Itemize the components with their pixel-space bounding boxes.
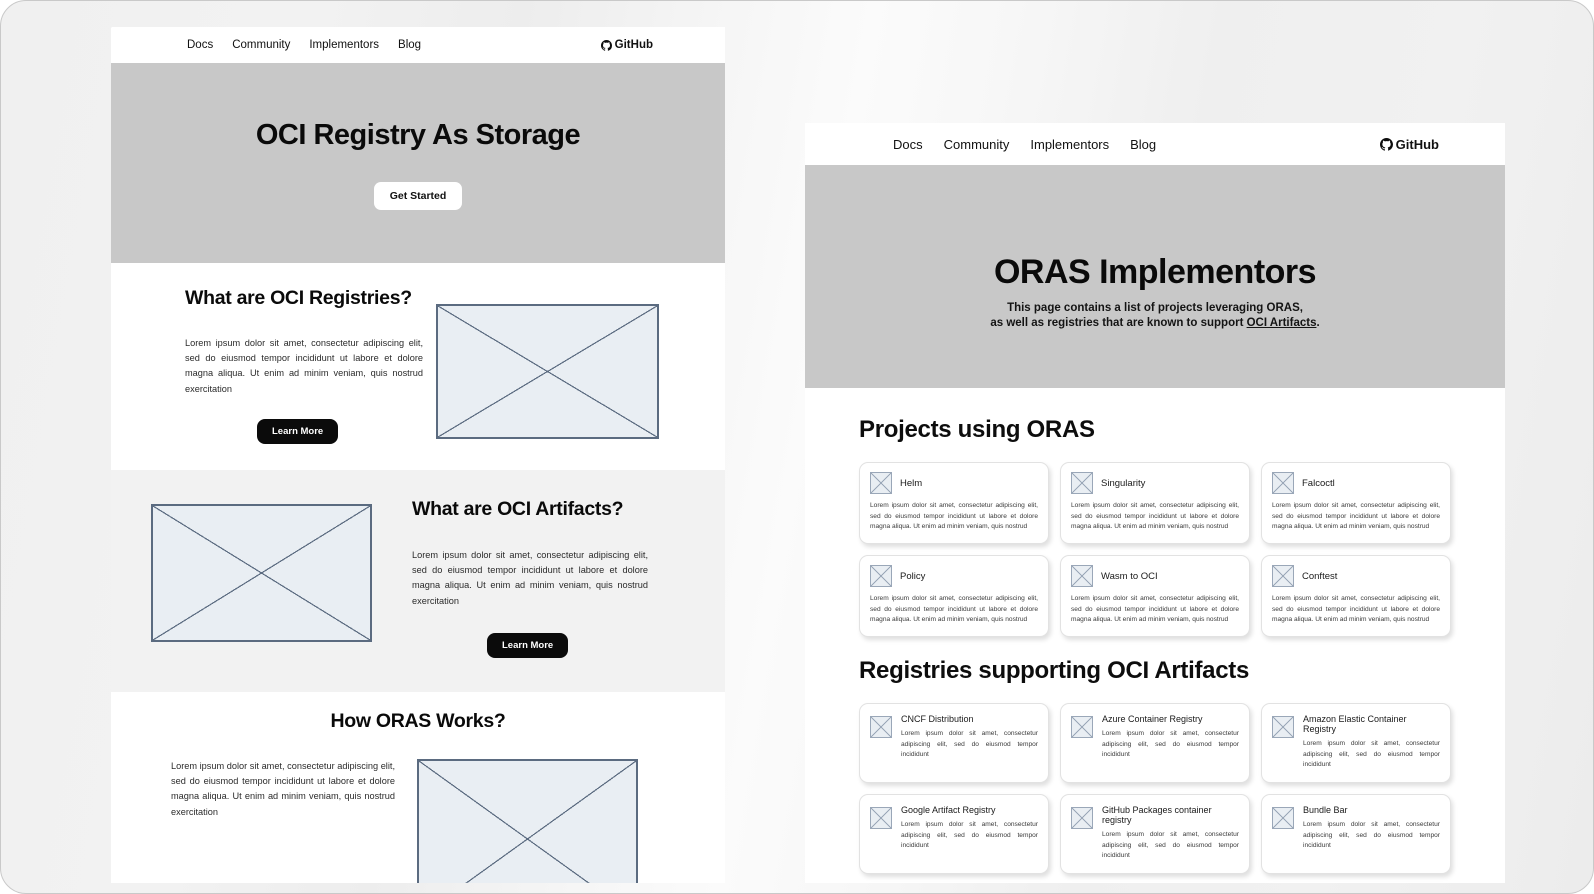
projects-heading: Projects using ORAS [805, 416, 1505, 444]
section-body: Lorem ipsum dolor sit amet, consectetur … [185, 336, 423, 397]
registry-name: Google Artifact Registry [901, 805, 1038, 815]
nav-links: Docs Community Implementors Blog [893, 137, 1156, 152]
registry-logo-placeholder-icon [1071, 716, 1093, 738]
registry-logo-placeholder-icon [870, 807, 892, 829]
registry-name: GitHub Packages container registry [1102, 805, 1239, 825]
section-heading: What are OCI Registries? [185, 287, 441, 310]
registry-card[interactable]: Google Artifact Registry Lorem ipsum dol… [859, 794, 1049, 874]
project-logo-placeholder-icon [870, 472, 892, 494]
registry-description: Lorem ipsum dolor sit amet, consectetur … [1303, 820, 1440, 852]
project-name: Policy [900, 571, 925, 582]
registry-card[interactable]: Azure Container Registry Lorem ipsum dol… [1060, 703, 1250, 783]
card-header: Policy [870, 565, 1038, 587]
github-label: GitHub [615, 39, 653, 51]
oras-implementors-page-mock: Docs Community Implementors Blog GitHub … [805, 123, 1505, 883]
hero-subtitle-prefix: as well as registries that are known to … [990, 317, 1246, 329]
project-card[interactable]: Conftest Lorem ipsum dolor sit amet, con… [1261, 555, 1451, 637]
project-card[interactable]: Singularity Lorem ipsum dolor sit amet, … [1060, 462, 1250, 544]
registry-card[interactable]: Amazon Elastic Container Registry Lorem … [1261, 703, 1451, 783]
project-description: Lorem ipsum dolor sit amet, consectetur … [1071, 594, 1239, 626]
registry-name: Bundle Bar [1303, 805, 1440, 815]
nav-link-implementors[interactable]: Implementors [309, 39, 379, 51]
registry-name: Azure Container Registry [1102, 714, 1239, 724]
github-icon [601, 40, 612, 51]
section-oci-registries: What are OCI Registries? Lorem ipsum dol… [111, 263, 725, 470]
implementors-content: Projects using ORAS Helm Lorem ipsum dol… [805, 388, 1505, 883]
card-header: Singularity [1071, 472, 1239, 494]
nav-link-blog[interactable]: Blog [398, 39, 421, 51]
card-body: CNCF Distribution Lorem ipsum dolor sit … [901, 714, 1038, 771]
card-body: GitHub Packages container registry Lorem… [1102, 805, 1239, 862]
project-name: Singularity [1101, 478, 1145, 489]
nav-link-docs[interactable]: Docs [893, 137, 923, 152]
registry-description: Lorem ipsum dolor sit amet, consectetur … [901, 729, 1038, 761]
nav-links: Docs Community Implementors Blog [187, 39, 421, 51]
project-name: Conftest [1302, 571, 1337, 582]
image-placeholder [436, 304, 659, 439]
project-description: Lorem ipsum dolor sit amet, consectetur … [1272, 594, 1440, 626]
section-body: Lorem ipsum dolor sit amet, consectetur … [412, 548, 648, 609]
registry-logo-placeholder-icon [870, 716, 892, 738]
registry-description: Lorem ipsum dolor sit amet, consectetur … [1102, 830, 1239, 862]
project-description: Lorem ipsum dolor sit amet, consectetur … [1071, 501, 1239, 533]
hero-banner: OCI Registry As Storage Get Started [111, 63, 725, 263]
project-card[interactable]: Falcoctl Lorem ipsum dolor sit amet, con… [1261, 462, 1451, 544]
project-description: Lorem ipsum dolor sit amet, consectetur … [870, 594, 1038, 626]
project-name: Helm [900, 478, 922, 489]
registry-card[interactable]: GitHub Packages container registry Lorem… [1060, 794, 1250, 874]
section-how-oras-works: How ORAS Works? Lorem ipsum dolor sit am… [111, 692, 725, 883]
project-card[interactable]: Policy Lorem ipsum dolor sit amet, conse… [859, 555, 1049, 637]
project-logo-placeholder-icon [1071, 565, 1093, 587]
navbar: Docs Community Implementors Blog GitHub [805, 123, 1505, 165]
learn-more-button[interactable]: Learn More [257, 419, 338, 444]
registry-logo-placeholder-icon [1272, 716, 1294, 738]
screenshot-canvas: Docs Community Implementors Blog GitHub … [0, 0, 1594, 894]
hero-subtitle-suffix: . [1316, 317, 1319, 329]
project-logo-placeholder-icon [870, 565, 892, 587]
section-spacer [805, 637, 1505, 657]
github-label: GitHub [1396, 137, 1439, 152]
image-placeholder [151, 504, 372, 642]
registry-card[interactable]: CNCF Distribution Lorem ipsum dolor sit … [859, 703, 1049, 783]
page-title: OCI Registry As Storage [256, 119, 580, 152]
card-body: Bundle Bar Lorem ipsum dolor sit amet, c… [1303, 805, 1440, 862]
image-placeholder [417, 759, 638, 883]
registry-description: Lorem ipsum dolor sit amet, consectetur … [1303, 739, 1440, 771]
nav-link-docs[interactable]: Docs [187, 39, 213, 51]
registries-heading: Registries supporting OCI Artifacts [805, 657, 1505, 685]
card-header: Helm [870, 472, 1038, 494]
project-name: Wasm to OCI [1101, 571, 1158, 582]
project-card[interactable]: Wasm to OCI Lorem ipsum dolor sit amet, … [1060, 555, 1250, 637]
registry-logo-placeholder-icon [1272, 807, 1294, 829]
oci-artifacts-link[interactable]: OCI Artifacts [1247, 317, 1317, 329]
card-header: Wasm to OCI [1071, 565, 1239, 587]
nav-link-implementors[interactable]: Implementors [1030, 137, 1109, 152]
nav-link-community[interactable]: Community [232, 39, 290, 51]
section-body: Lorem ipsum dolor sit amet, consectetur … [171, 759, 395, 820]
project-name: Falcoctl [1302, 478, 1335, 489]
github-icon [1380, 138, 1393, 151]
section-oci-artifacts: What are OCI Artifacts? Lorem ipsum dolo… [111, 470, 725, 692]
nav-link-blog[interactable]: Blog [1130, 137, 1156, 152]
registries-card-grid: CNCF Distribution Lorem ipsum dolor sit … [805, 703, 1505, 874]
card-body: Amazon Elastic Container Registry Lorem … [1303, 714, 1440, 771]
project-description: Lorem ipsum dolor sit amet, consectetur … [870, 501, 1038, 533]
registry-description: Lorem ipsum dolor sit amet, consectetur … [1102, 729, 1239, 761]
get-started-button[interactable]: Get Started [374, 182, 463, 210]
github-link[interactable]: GitHub [1380, 137, 1481, 152]
registry-card[interactable]: Bundle Bar Lorem ipsum dolor sit amet, c… [1261, 794, 1451, 874]
learn-more-button[interactable]: Learn More [487, 633, 568, 658]
project-description: Lorem ipsum dolor sit amet, consectetur … [1272, 501, 1440, 533]
registry-name: CNCF Distribution [901, 714, 1038, 724]
hero-subtitle-line-2: as well as registries that are known to … [990, 316, 1319, 331]
registry-logo-placeholder-icon [1071, 807, 1093, 829]
section-heading: How ORAS Works? [111, 710, 725, 733]
project-logo-placeholder-icon [1071, 472, 1093, 494]
card-header: Falcoctl [1272, 472, 1440, 494]
project-card[interactable]: Helm Lorem ipsum dolor sit amet, consect… [859, 462, 1049, 544]
registry-name: Amazon Elastic Container Registry [1303, 714, 1440, 734]
github-link[interactable]: GitHub [601, 39, 707, 51]
registry-description: Lorem ipsum dolor sit amet, consectetur … [901, 820, 1038, 852]
section-heading: What are OCI Artifacts? [412, 498, 662, 521]
nav-link-community[interactable]: Community [944, 137, 1010, 152]
card-body: Azure Container Registry Lorem ipsum dol… [1102, 714, 1239, 771]
projects-card-grid: Helm Lorem ipsum dolor sit amet, consect… [805, 462, 1505, 637]
project-logo-placeholder-icon [1272, 472, 1294, 494]
hero-subtitle-line-1: This page contains a list of projects le… [990, 301, 1319, 316]
navbar: Docs Community Implementors Blog GitHub [111, 27, 725, 63]
hero-banner: ORAS Implementors This page contains a l… [805, 165, 1505, 388]
card-body: Google Artifact Registry Lorem ipsum dol… [901, 805, 1038, 862]
hero-subtitle: This page contains a list of projects le… [990, 301, 1319, 331]
oras-home-page-mock: Docs Community Implementors Blog GitHub … [111, 27, 725, 883]
card-header: Conftest [1272, 565, 1440, 587]
page-title: ORAS Implementors [994, 253, 1316, 292]
project-logo-placeholder-icon [1272, 565, 1294, 587]
